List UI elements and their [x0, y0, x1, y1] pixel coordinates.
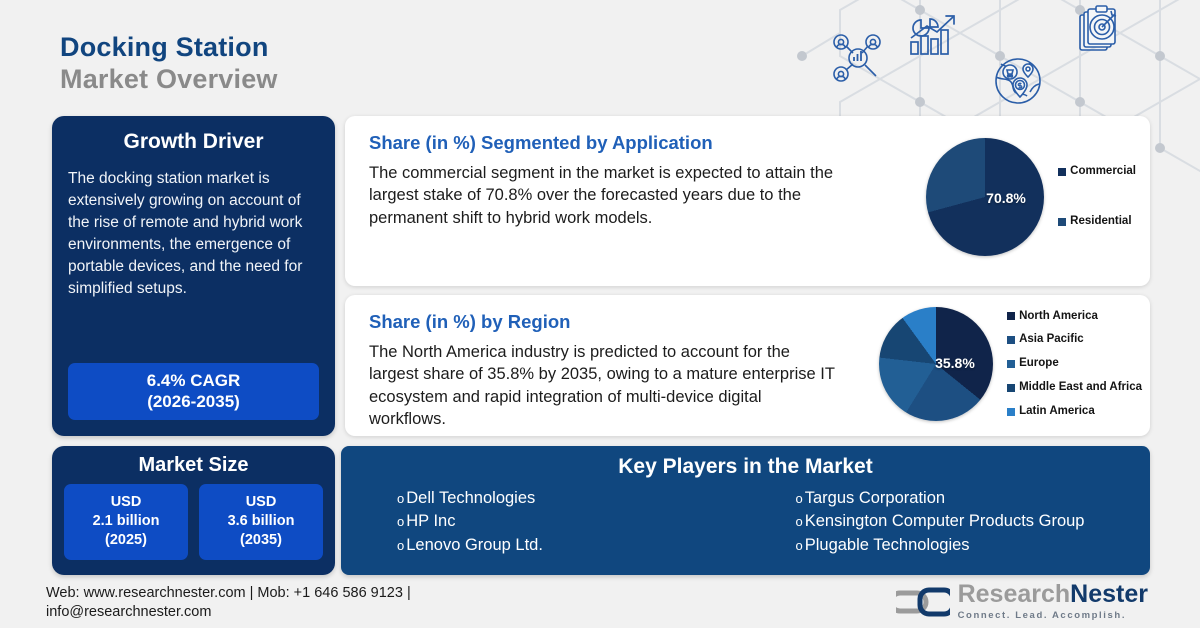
- region-pie-block: 35.8% North America Asia Pacific Europe: [879, 307, 1142, 421]
- region-pie-data-label: 35.8%: [935, 355, 975, 371]
- key-player-name: Plugable Technologies: [805, 534, 970, 557]
- region-pie-legend: North America Asia Pacific Europe Middle…: [1007, 310, 1142, 419]
- amount-label: 3.6 billion: [201, 512, 321, 531]
- legend-label: North America: [1019, 310, 1098, 324]
- currency-label: USD: [201, 493, 321, 512]
- legend-swatch: [1007, 408, 1015, 416]
- key-player-item: oTargus Corporation: [796, 487, 1135, 510]
- legend-swatch: [1007, 312, 1015, 320]
- footer-contact: Web: www.researchnester.com | Mob: +1 64…: [46, 584, 566, 622]
- bullet-circle-icon: o: [796, 539, 803, 552]
- region-card-body: The North America industry is predicted …: [369, 341, 839, 431]
- market-size-panel: Market Size USD 2.1 billion (2025) USD 3…: [52, 446, 335, 575]
- user-network-search-icon: [828, 28, 888, 93]
- key-player-name: HP Inc: [406, 510, 455, 533]
- bullet-circle-icon: o: [796, 515, 803, 528]
- key-player-item: oPlugable Technologies: [796, 534, 1135, 557]
- research-nester-logo: ResearchNester Connect. Lead. Accomplish…: [896, 582, 1148, 621]
- legend-item: Middle East and Africa: [1007, 381, 1142, 395]
- legend-swatch: [1007, 384, 1015, 392]
- legend-swatch: [1007, 336, 1015, 344]
- legend-item: Residential: [1058, 215, 1136, 229]
- application-pie-chart: 70.8%: [926, 138, 1044, 256]
- region-share-card: Share (in %) by Region The North America…: [345, 295, 1150, 436]
- key-player-name: Kensington Computer Products Group: [805, 510, 1085, 533]
- application-pie-data-label: 70.8%: [986, 190, 1026, 206]
- legend-label: Europe: [1019, 357, 1059, 371]
- growth-driver-title: Growth Driver: [68, 130, 319, 154]
- market-size-row: USD 2.1 billion (2025) USD 3.6 billion (…: [64, 484, 323, 560]
- legend-swatch: [1007, 360, 1015, 368]
- legend-label: Latin America: [1019, 405, 1095, 419]
- logo-word-nester: Nester: [1070, 580, 1148, 608]
- application-card-body: The commercial segment in the market is …: [369, 162, 839, 229]
- application-pie-block: 70.8% Commercial Residential: [926, 138, 1136, 256]
- year-label: (2025): [66, 531, 186, 550]
- key-player-item: oKensington Computer Products Group: [796, 510, 1135, 533]
- key-player-name: Dell Technologies: [406, 487, 535, 510]
- market-size-title: Market Size: [64, 454, 323, 477]
- globe-commerce-icon: [989, 52, 1047, 115]
- key-players-column-right: oTargus CorporationoKensington Computer …: [746, 487, 1135, 557]
- key-player-item: oDell Technologies: [397, 487, 746, 510]
- chain-link-icon: [896, 585, 950, 619]
- bullet-circle-icon: o: [397, 492, 404, 505]
- page-title: Docking Station Market Overview: [60, 32, 278, 96]
- key-player-item: oHP Inc: [397, 510, 746, 533]
- legend-item: Asia Pacific: [1007, 333, 1142, 347]
- legend-swatch: [1058, 168, 1066, 176]
- logo-word-research: Research: [958, 580, 1071, 608]
- region-pie-chart: 35.8%: [879, 307, 993, 421]
- bullet-circle-icon: o: [796, 492, 803, 505]
- cagr-period: (2026-2035): [72, 392, 315, 412]
- year-label: (2035): [201, 531, 321, 550]
- cagr-value: 6.4% CAGR: [72, 371, 315, 391]
- bullet-circle-icon: o: [397, 539, 404, 552]
- key-players-column-left: oDell TechnologiesoHP IncoLenovo Group L…: [357, 487, 746, 557]
- currency-label: USD: [66, 493, 186, 512]
- growth-driver-panel: Growth Driver The docking station market…: [52, 116, 335, 436]
- legend-item: Commercial: [1058, 165, 1136, 179]
- legend-item: Latin America: [1007, 405, 1142, 419]
- market-size-box-2035: USD 3.6 billion (2035): [199, 484, 323, 560]
- logo-tagline: Connect. Lead. Accomplish.: [958, 610, 1148, 621]
- key-player-item: oLenovo Group Ltd.: [397, 534, 746, 557]
- legend-item: North America: [1007, 310, 1142, 324]
- legend-swatch: [1058, 218, 1066, 226]
- legend-label: Commercial: [1070, 165, 1136, 179]
- key-player-name: Targus Corporation: [805, 487, 945, 510]
- application-share-card: Share (in %) Segmented by Application Th…: [345, 116, 1150, 286]
- bar-chart-growth-icon: [907, 8, 963, 69]
- clipboard-target-icon: [1068, 5, 1124, 66]
- legend-item: Europe: [1007, 357, 1142, 371]
- market-size-box-2025: USD 2.1 billion (2025): [64, 484, 188, 560]
- title-subtitle: Market Overview: [60, 64, 278, 96]
- legend-label: Middle East and Africa: [1019, 381, 1142, 395]
- legend-label: Asia Pacific: [1019, 333, 1084, 347]
- key-player-name: Lenovo Group Ltd.: [406, 534, 543, 557]
- amount-label: 2.1 billion: [66, 512, 186, 531]
- growth-driver-body: The docking station market is extensivel…: [68, 168, 319, 300]
- bullet-circle-icon: o: [397, 515, 404, 528]
- title-main: Docking Station: [60, 32, 278, 64]
- key-players-title: Key Players in the Market: [357, 455, 1134, 479]
- infographic-canvas: Docking Station Market Overview Growth D…: [0, 0, 1200, 628]
- cagr-badge: 6.4% CAGR (2026-2035): [68, 363, 319, 420]
- key-players-panel: Key Players in the Market oDell Technolo…: [341, 446, 1150, 575]
- legend-label: Residential: [1070, 215, 1131, 229]
- application-pie-legend: Commercial Residential: [1058, 165, 1136, 229]
